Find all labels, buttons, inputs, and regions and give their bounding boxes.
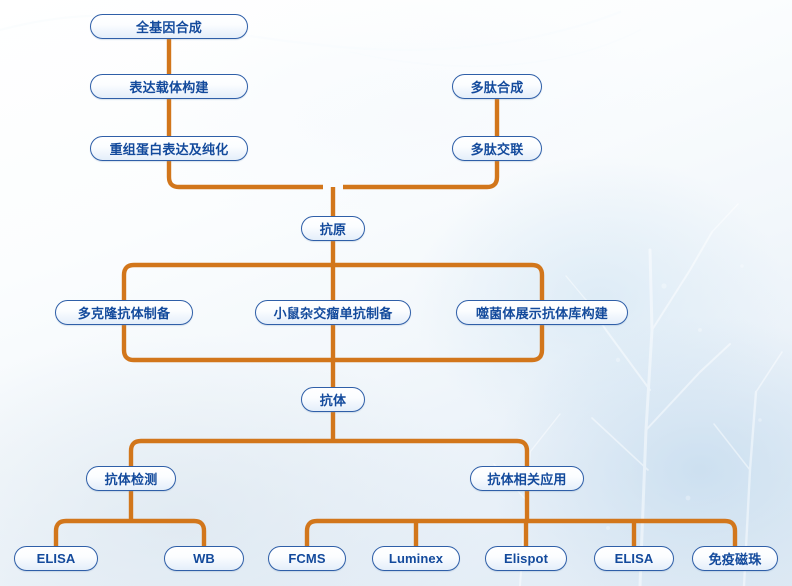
flow-node-n18[interactable]: ELISA <box>594 546 674 571</box>
wire-detection-bus <box>56 521 204 546</box>
flow-node-n3[interactable]: 重组蛋白表达及纯化 <box>90 136 248 161</box>
flow-node-n1[interactable]: 全基因合成 <box>90 14 248 39</box>
flow-node-n14[interactable]: WB <box>164 546 244 571</box>
flow-node-n10[interactable]: 抗体 <box>301 387 365 412</box>
flow-node-n9[interactable]: 噬菌体展示抗体库构建 <box>456 300 628 325</box>
flow-node-n5[interactable]: 多肽交联 <box>452 136 542 161</box>
wire-merge-to-antigen-left <box>169 161 323 187</box>
flow-node-n8[interactable]: 小鼠杂交瘤单抗制备 <box>255 300 411 325</box>
flow-node-n19[interactable]: 免疫磁珠 <box>692 546 778 571</box>
flow-node-n17[interactable]: Elispot <box>485 546 567 571</box>
flow-node-n2[interactable]: 表达载体构建 <box>90 74 248 99</box>
flow-node-n12[interactable]: 抗体相关应用 <box>470 466 584 491</box>
flowchart-canvas: 全基因合成表达载体构建重组蛋白表达及纯化多肽合成多肽交联抗原多克隆抗体制备小鼠杂… <box>0 0 792 586</box>
flow-node-n4[interactable]: 多肽合成 <box>452 74 542 99</box>
flow-node-n7[interactable]: 多克隆抗体制备 <box>55 300 193 325</box>
wire-antibody-bus <box>131 441 527 466</box>
flow-node-n6[interactable]: 抗原 <box>301 216 365 241</box>
flow-node-n15[interactable]: FCMS <box>268 546 346 571</box>
flow-node-n16[interactable]: Luminex <box>372 546 460 571</box>
wire-merge-to-antigen-right <box>343 161 497 187</box>
flow-node-n11[interactable]: 抗体检测 <box>86 466 176 491</box>
flow-node-n13[interactable]: ELISA <box>14 546 98 571</box>
wire-application-bus <box>307 521 735 546</box>
